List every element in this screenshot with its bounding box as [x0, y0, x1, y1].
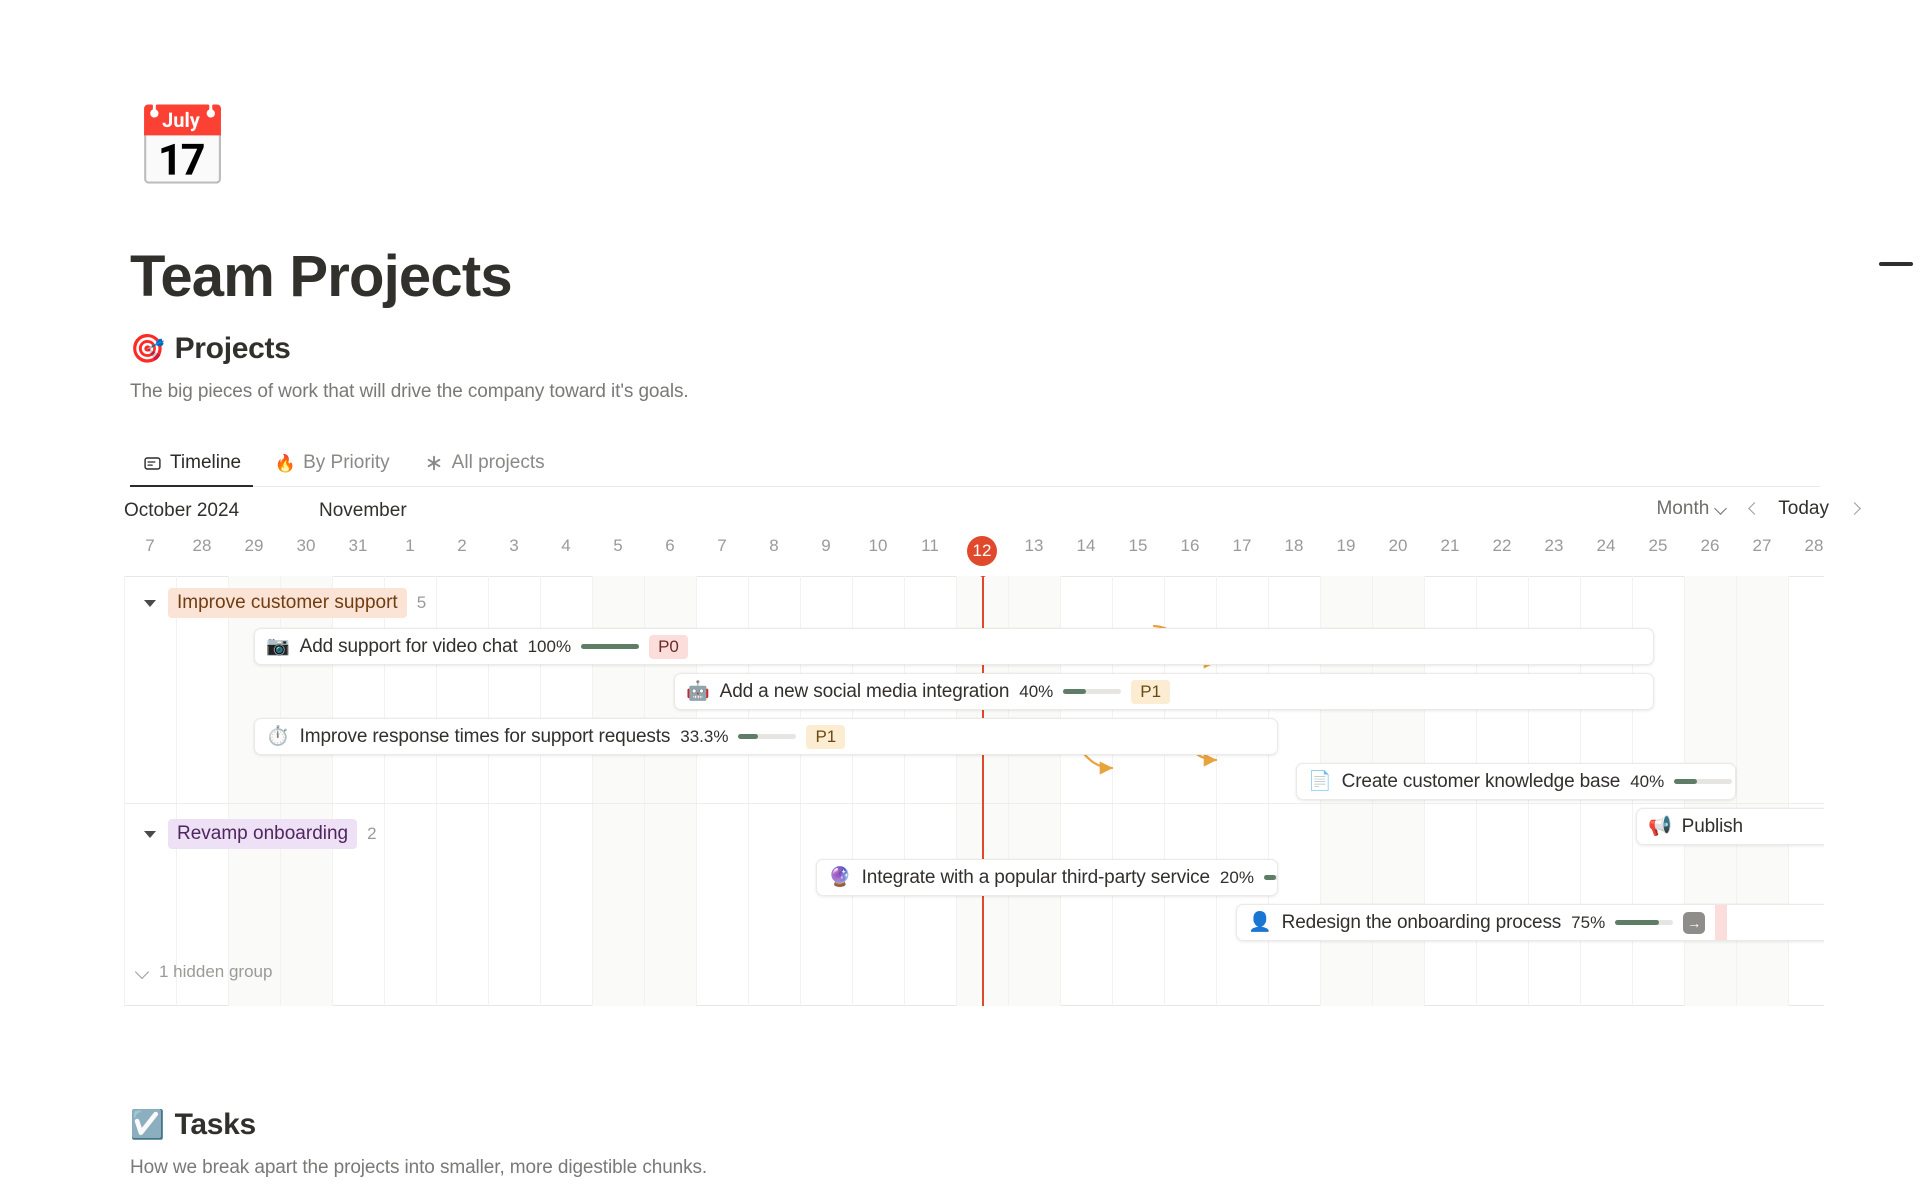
tasks-heading: ☑️ Tasks	[130, 1108, 707, 1142]
grid-group-divider	[124, 803, 1824, 804]
group-count: 2	[367, 824, 376, 844]
projects-heading-label: Projects	[175, 332, 291, 366]
timeline-task-bar[interactable]: 🤖Add a new social media integration40%P1	[674, 673, 1654, 710]
day-1: 1	[392, 536, 428, 556]
task-percent: 20%	[1220, 868, 1254, 888]
hidden-group-toggle[interactable]: 1 hidden group	[134, 962, 272, 982]
fire-icon: 🔥	[275, 453, 295, 473]
day-2: 2	[444, 536, 480, 556]
task-progress-fill	[581, 644, 639, 649]
timeline-task-bar[interactable]: 📷Add support for video chat100%P0	[254, 628, 1654, 665]
asterisk-icon	[424, 453, 444, 473]
day-5: 5	[600, 536, 636, 556]
task-title: Add support for video chat	[300, 636, 518, 658]
task-title: Improve response times for support reque…	[300, 726, 671, 748]
dart-icon: 🎯	[130, 335, 165, 363]
task-progress-fill	[738, 734, 757, 739]
group-name-pill[interactable]: Revamp onboarding	[168, 819, 357, 849]
tasks-section-header: ☑️ Tasks How we break apart the projects…	[130, 1108, 707, 1179]
day-29: 29	[236, 536, 272, 556]
tab-by-priority-label: By Priority	[303, 452, 390, 474]
timeline-month-row: October 2024November	[124, 500, 1820, 526]
tab-timeline[interactable]: Timeline	[130, 452, 253, 487]
today-pill: 12	[967, 536, 997, 566]
task-emoji-icon: 📷	[266, 637, 290, 656]
tab-all-projects[interactable]: All projects	[412, 452, 557, 487]
grid-column-line	[1736, 576, 1737, 1006]
day-18: 18	[1276, 536, 1312, 556]
timeline-task-bar[interactable]: 👤Redesign the onboarding process75%→	[1236, 904, 1824, 941]
day-25: 25	[1640, 536, 1676, 556]
timeline-group-header[interactable]: Revamp onboarding2	[142, 819, 377, 849]
day-4: 4	[548, 536, 584, 556]
task-priority-tag-clipped	[1715, 905, 1727, 940]
task-progress-fill	[1063, 689, 1086, 694]
caret-down-icon[interactable]	[142, 826, 158, 842]
timeline-group-header[interactable]: Improve customer support5	[142, 588, 426, 618]
page-emoji-calendar-icon[interactable]: 📅	[134, 108, 231, 186]
tasks-description: How we break apart the projects into sma…	[130, 1157, 707, 1179]
task-priority-tag: P1	[1131, 680, 1170, 704]
timeline-day-scale: 7282930311234567891011121314151617181920…	[124, 536, 1824, 566]
month-label-1: November	[319, 500, 407, 522]
day-7: 7	[704, 536, 740, 556]
checkbox-icon: ☑️	[130, 1111, 165, 1139]
task-priority-tag: P1	[806, 725, 845, 749]
task-progress-bar	[1615, 920, 1673, 925]
day-8: 8	[756, 536, 792, 556]
timeline-task-bar[interactable]: 📄Create customer knowledge base40%P1	[1296, 763, 1736, 800]
next-period-button[interactable]	[1843, 498, 1865, 520]
sidebar-collapse-handle[interactable]	[1879, 262, 1913, 266]
task-progress-bar	[1264, 875, 1278, 880]
task-title: Create customer knowledge base	[1342, 771, 1621, 793]
task-percent: 40%	[1630, 772, 1664, 792]
task-title: Add a new social media integration	[720, 681, 1010, 703]
day-24: 24	[1588, 536, 1624, 556]
task-emoji-icon: 🔮	[828, 868, 852, 887]
timeline-task-bar[interactable]: 🔮Integrate with a popular third-party se…	[816, 859, 1278, 896]
grid-column-line	[176, 576, 177, 1006]
timeline-task-bar[interactable]: ⏱️Improve response times for support req…	[254, 718, 1278, 755]
grid-column-line	[124, 576, 125, 1006]
task-title: Publish	[1682, 816, 1743, 838]
group-name-pill[interactable]: Improve customer support	[168, 588, 407, 618]
day-17: 17	[1224, 536, 1260, 556]
group-count: 5	[417, 593, 426, 613]
view-tabs: Timeline 🔥 By Priority All projects	[130, 445, 557, 487]
projects-description: The big pieces of work that will drive t…	[130, 381, 689, 403]
day-16: 16	[1172, 536, 1208, 556]
task-percent: 40%	[1019, 682, 1053, 702]
day-3: 3	[496, 536, 532, 556]
task-progress-fill	[1264, 875, 1276, 880]
task-emoji-icon: 📄	[1308, 772, 1332, 791]
task-progress-fill	[1674, 779, 1697, 784]
timeline-icon	[142, 453, 162, 473]
task-priority-tag: P0	[649, 635, 688, 659]
projects-section-header: 🎯 Projects The big pieces of work that w…	[130, 332, 689, 403]
day-21: 21	[1432, 536, 1468, 556]
notion-page: 📅 Team Projects 🎯 Projects The big piece…	[0, 0, 1920, 1199]
task-percent: 100%	[528, 637, 571, 657]
page-title: Team Projects	[130, 243, 512, 310]
chevron-down-icon	[134, 964, 150, 980]
timeline-grid[interactable]: Improve customer support5📷Add support fo…	[124, 576, 1824, 1006]
day-26: 26	[1692, 536, 1728, 556]
tasks-heading-label: Tasks	[175, 1108, 256, 1142]
grid-column-line	[1788, 576, 1789, 1006]
task-emoji-icon: 📢	[1648, 817, 1672, 836]
day-11: 11	[912, 536, 948, 556]
day-28: 28	[1796, 536, 1832, 556]
day-9: 9	[808, 536, 844, 556]
day-22: 22	[1484, 536, 1520, 556]
task-percent: 75%	[1571, 913, 1605, 933]
task-progress-fill	[1615, 920, 1659, 925]
month-label-0: October 2024	[124, 500, 239, 522]
day-6: 6	[652, 536, 688, 556]
caret-down-icon[interactable]	[142, 595, 158, 611]
day-10: 10	[860, 536, 896, 556]
day-23: 23	[1536, 536, 1572, 556]
task-title: Integrate with a popular third-party ser…	[862, 867, 1210, 889]
day-13: 13	[1016, 536, 1052, 556]
day-today: 12	[964, 536, 1000, 566]
day-14: 14	[1068, 536, 1104, 556]
tab-all-projects-label: All projects	[452, 452, 545, 474]
task-progress-bar	[1674, 779, 1732, 784]
day-15: 15	[1120, 536, 1156, 556]
task-title: Redesign the onboarding process	[1282, 912, 1562, 934]
day-30: 30	[288, 536, 324, 556]
day-7: 7	[132, 536, 168, 556]
projects-heading: 🎯 Projects	[130, 332, 689, 366]
task-emoji-icon: 👤	[1248, 913, 1272, 932]
task-progress-bar	[581, 644, 639, 649]
timeline-task-bar[interactable]: 📢Publish	[1636, 808, 1824, 845]
task-progress-bar	[738, 734, 796, 739]
day-27: 27	[1744, 536, 1780, 556]
weekend-stripe	[1736, 576, 1788, 1006]
task-percent: 33.3%	[680, 727, 728, 747]
open-task-arrow-icon[interactable]: →	[1683, 912, 1705, 934]
hidden-group-label: 1 hidden group	[159, 962, 272, 982]
tab-by-priority[interactable]: 🔥 By Priority	[263, 452, 402, 487]
day-20: 20	[1380, 536, 1416, 556]
day-28: 28	[184, 536, 220, 556]
day-31: 31	[340, 536, 376, 556]
day-19: 19	[1328, 536, 1364, 556]
task-emoji-icon: 🤖	[686, 682, 710, 701]
tab-timeline-label: Timeline	[170, 452, 241, 474]
grid-column-line	[228, 576, 229, 1006]
task-emoji-icon: ⏱️	[266, 727, 290, 746]
task-progress-bar	[1063, 689, 1121, 694]
